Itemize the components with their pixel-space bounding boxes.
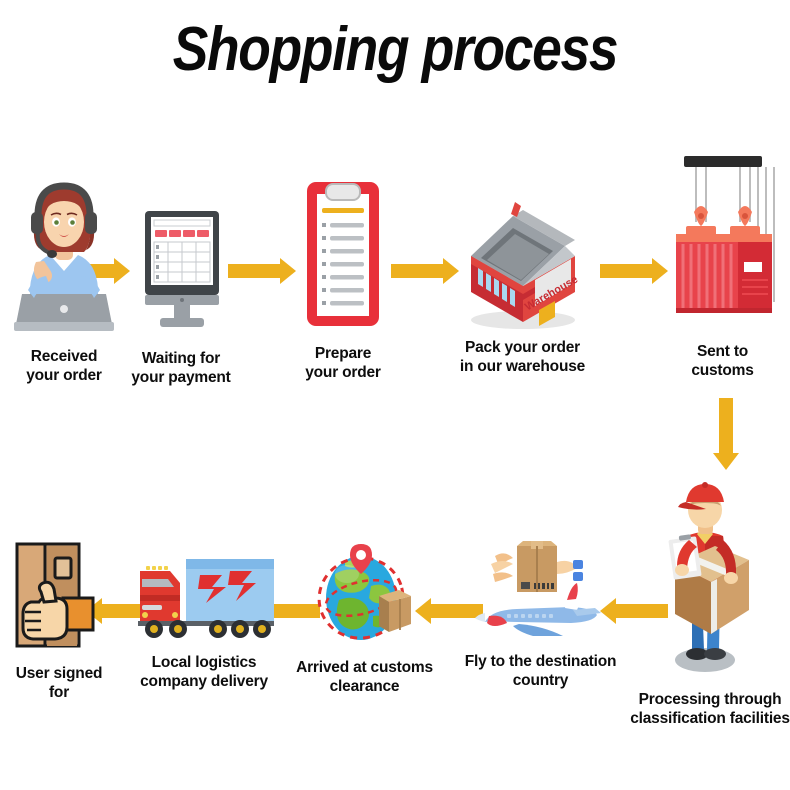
shipping-container-crane-icon — [658, 150, 788, 332]
step-user-signed-for[interactable]: User signed for — [0, 540, 118, 703]
globe-location-pin-parcel-icon — [305, 540, 425, 650]
warehouse-building-icon: Warehouse — [447, 180, 599, 332]
step-received-your-order[interactable]: Received your order — [0, 176, 128, 386]
step-label: Waiting for your payment — [117, 349, 245, 388]
step-processing-through-classification-facilities[interactable]: Processing through classification facili… — [620, 478, 790, 729]
step-label: Received your order — [0, 347, 128, 386]
shopping-process-infographic: Shopping process — [0, 0, 790, 790]
delivery-worker-parcels-icon — [645, 478, 765, 678]
step-waiting-for-your-payment[interactable]: Waiting for your payment — [117, 205, 245, 388]
airplane-parcel-icon — [461, 538, 621, 650]
step-label: Processing through classification facili… — [630, 690, 790, 729]
step-sent-to-customs[interactable]: Sent to customs — [655, 150, 790, 381]
customer-service-agent-icon — [14, 176, 114, 331]
monitor-spreadsheet-icon — [129, 205, 234, 331]
step-arrived-at-customs-clearance[interactable]: Arrived at customs clearance — [283, 540, 446, 697]
step-label: User signed for — [0, 664, 118, 703]
step-local-logistics-company-delivery[interactable]: Local logistics company delivery — [124, 545, 284, 692]
step-label: Local logistics company delivery — [124, 653, 284, 692]
clipboard-checklist-icon — [295, 178, 391, 330]
page-title: Shopping process — [55, 14, 734, 85]
arrow-head — [713, 453, 739, 470]
step-pack-your-order-in-our-warehouse[interactable]: Warehouse Pack your order in our warehou… — [440, 180, 605, 377]
step-label: Sent to customs — [655, 342, 790, 381]
step-label: Prepare your order — [283, 344, 403, 383]
step-label: Fly to the destination country — [448, 652, 633, 691]
arrow-icon-step5-to-step6 — [713, 398, 739, 470]
step-label: Arrived at customs clearance — [283, 658, 446, 697]
arrow-shaft — [719, 398, 733, 454]
step-label: Pack your order in our warehouse — [440, 338, 605, 377]
step-fly-to-the-destination-country[interactable]: Fly to the destination country — [448, 538, 633, 691]
delivery-truck-icon — [126, 545, 282, 645]
door-hand-knock-icon — [11, 540, 107, 650]
arrow-shaft — [600, 264, 653, 278]
step-prepare-your-order[interactable]: Prepare your order — [283, 178, 403, 383]
